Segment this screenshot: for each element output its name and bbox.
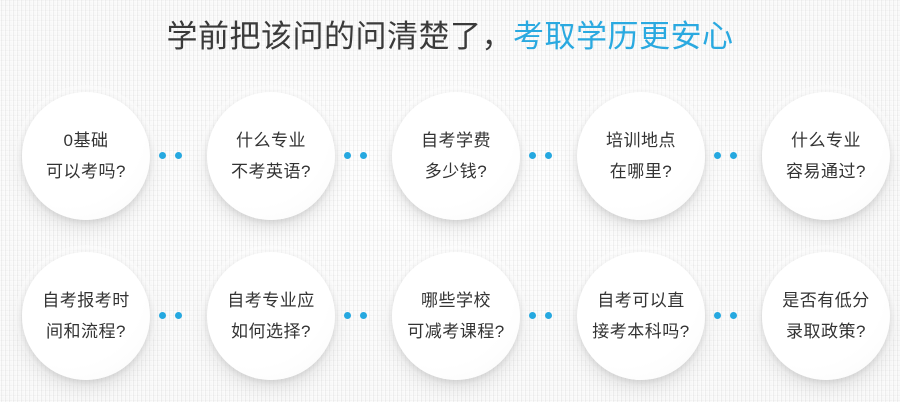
faq-bubble-line-1: 0基础 (64, 125, 109, 156)
faq-bubble[interactable]: 自考专业应 如何选择? (207, 252, 335, 380)
dot-separator (714, 312, 738, 320)
faq-bubble-line-1: 什么专业 (236, 125, 306, 156)
faq-bubble[interactable]: 什么专业 容易通过? (762, 92, 890, 220)
dot-icon (730, 152, 737, 159)
faq-bubble-line-2: 可减考课程? (407, 316, 504, 347)
faq-bubble-line-2: 录取政策? (786, 316, 866, 347)
faq-bubble[interactable]: 自考可以直 接考本科吗? (577, 252, 705, 380)
page-title-accent: 考取学历更安心 (513, 19, 734, 54)
faq-bubble-line-1: 自考报考时 (42, 285, 130, 316)
faq-bubble-line-1: 是否有低分 (782, 285, 870, 316)
dot-separator (529, 312, 553, 320)
faq-bubble-line-2: 不考英语? (231, 156, 311, 187)
faq-bubble-line-1: 自考专业应 (227, 285, 315, 316)
dot-icon (545, 312, 552, 319)
dot-icon (360, 312, 367, 319)
faq-bubble-line-2: 可以考吗? (46, 156, 126, 187)
faq-bubble-line-1: 自考学费 (421, 125, 491, 156)
faq-row-1: 0基础 可以考吗? 什么专业 不考英语? 自考学费 多少钱? 培训地点 在哪里? (0, 92, 900, 222)
faq-bubble[interactable]: 自考报考时 间和流程? (22, 252, 150, 380)
dot-icon (529, 152, 536, 159)
faq-row-2: 自考报考时 间和流程? 自考专业应 如何选择? 哪些学校 可减考课程? 自考可以… (0, 252, 900, 382)
dot-separator (529, 152, 553, 160)
dot-icon (730, 312, 737, 319)
faq-bubble[interactable]: 哪些学校 可减考课程? (392, 252, 520, 380)
page-title: 学前把该问的问清楚了，考取学历更安心 (0, 17, 900, 57)
dot-icon (175, 152, 182, 159)
faq-bubble[interactable]: 0基础 可以考吗? (22, 92, 150, 220)
faq-bubble-line-2: 多少钱? (425, 156, 487, 187)
faq-bubble-line-2: 在哪里? (610, 156, 672, 187)
faq-bubble-line-1: 什么专业 (791, 125, 861, 156)
dot-separator (159, 152, 183, 160)
dot-separator (344, 152, 368, 160)
faq-bubble[interactable]: 什么专业 不考英语? (207, 92, 335, 220)
dot-icon (344, 312, 351, 319)
dot-icon (360, 152, 367, 159)
faq-banner: 学前把该问的问清楚了，考取学历更安心 0基础 可以考吗? 什么专业 不考英语? … (0, 0, 900, 402)
dot-separator (714, 152, 738, 160)
dot-icon (529, 312, 536, 319)
faq-bubble-line-2: 间和流程? (46, 316, 126, 347)
dot-icon (344, 152, 351, 159)
dot-icon (175, 312, 182, 319)
dot-icon (545, 152, 552, 159)
dot-icon (714, 312, 721, 319)
dot-separator (344, 312, 368, 320)
faq-bubble[interactable]: 自考学费 多少钱? (392, 92, 520, 220)
dot-icon (159, 152, 166, 159)
dot-separator (159, 312, 183, 320)
faq-bubble-line-1: 哪些学校 (421, 285, 491, 316)
faq-bubble-line-1: 培训地点 (606, 125, 676, 156)
dot-icon (714, 152, 721, 159)
faq-bubble[interactable]: 是否有低分 录取政策? (762, 252, 890, 380)
page-title-lead: 学前把该问的问清楚了， (167, 19, 514, 54)
faq-bubble-line-2: 容易通过? (786, 156, 866, 187)
faq-bubble-line-2: 接考本科吗? (592, 316, 689, 347)
dot-icon (159, 312, 166, 319)
faq-bubble-line-2: 如何选择? (231, 316, 311, 347)
faq-bubble-line-1: 自考可以直 (597, 285, 685, 316)
faq-bubble[interactable]: 培训地点 在哪里? (577, 92, 705, 220)
